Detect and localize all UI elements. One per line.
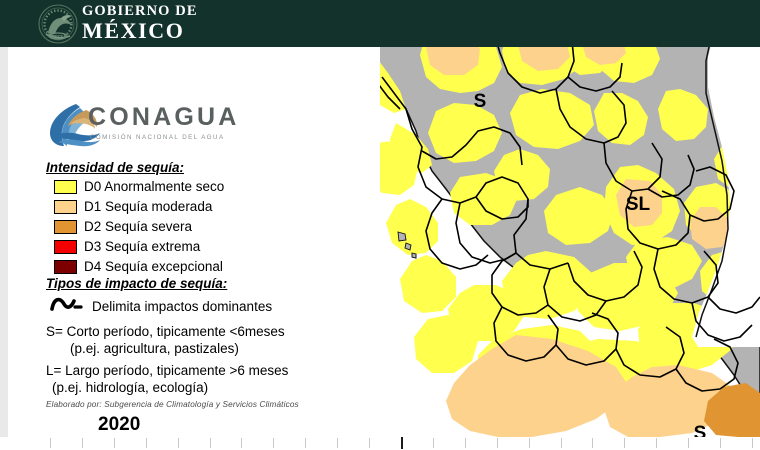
legend-swatch-d3 <box>54 240 77 254</box>
intensity-legend-title: Intensidad de sequía: <box>46 160 184 175</box>
legend-swatch-d2 <box>54 220 77 234</box>
credit-line: Elaborado por: Subgerencia de Climatolog… <box>46 400 299 409</box>
axis-tick <box>433 438 434 448</box>
axis-tick <box>178 438 179 448</box>
map-label-s-north: S <box>474 91 487 112</box>
axis-tick <box>146 438 147 448</box>
long-period-line1: L= Largo período, tipicamente >6 meses <box>46 363 288 378</box>
axis-tick <box>82 438 83 448</box>
pacific-island-c2 <box>412 253 416 258</box>
axis-tick-current <box>401 437 403 449</box>
legend-label-d2: D2 Sequía severa <box>84 219 192 234</box>
axis-tick <box>465 438 466 448</box>
legend-swatch-d4 <box>54 260 77 274</box>
axis-tick <box>241 438 242 448</box>
legend-label-d0: D0 Anormalmente seco <box>84 179 224 194</box>
squiggle-legend-label: Delimita impactos dominantes <box>92 299 272 314</box>
timeline-axis[interactable] <box>0 437 760 450</box>
drought-monitor-page: S SL S CONAGUA COMISIÓN NACIONAL DEL AGU… <box>0 0 760 450</box>
legend-label-d1: D1 Sequía moderada <box>84 199 212 214</box>
axis-tick <box>752 438 753 448</box>
long-period-line2: (p.ej. hidrología, ecología) <box>52 380 208 395</box>
mexico-line: MÉXICO <box>82 20 198 42</box>
axis-tick <box>624 438 625 448</box>
gobierno-line: GOBIERNO DE <box>82 4 198 19</box>
short-period-line2: (p.ej. agricultura, pastizales) <box>70 341 239 356</box>
axis-tick <box>369 438 370 448</box>
year-label: 2020 <box>98 414 140 436</box>
legend-swatch-d0 <box>54 180 77 194</box>
axis-tick <box>720 438 721 448</box>
map-label-sl: SL <box>626 194 651 215</box>
legend-swatch-d1 <box>54 200 77 214</box>
map-label-s-south: S <box>694 423 707 437</box>
legend-label-d3: D3 Sequía extrema <box>84 239 200 254</box>
squiggle-delimiter-icon <box>50 294 84 316</box>
mexican-national-seal-icon <box>30 3 86 45</box>
axis-tick <box>529 438 530 448</box>
axis-tick <box>210 438 211 448</box>
axis-tick <box>273 438 274 448</box>
government-header-bar: GOBIERNO DE MÉXICO <box>0 0 760 47</box>
conagua-name: CONAGUA <box>88 105 240 130</box>
axis-tick <box>50 438 51 448</box>
legend-label-d4: D4 Sequía excepcional <box>84 259 223 274</box>
axis-tick <box>561 438 562 448</box>
axis-tick <box>497 438 498 448</box>
impact-legend-title: Tipos de impacto de sequía: <box>46 276 227 291</box>
short-period-line1: S= Corto período, tipicamente <6meses <box>46 324 285 339</box>
axis-tick <box>592 438 593 448</box>
axis-tick <box>337 438 338 448</box>
conagua-wordmark: CONAGUA COMISIÓN NACIONAL DEL AGUA <box>88 105 240 141</box>
conagua-subtitle: COMISIÓN NACIONAL DEL AGUA <box>90 134 240 141</box>
government-title: GOBIERNO DE MÉXICO <box>82 4 198 42</box>
left-margin-strip <box>0 47 8 450</box>
axis-tick <box>305 438 306 448</box>
axis-tick <box>688 438 689 448</box>
axis-tick <box>114 438 115 448</box>
axis-tick <box>656 438 657 448</box>
